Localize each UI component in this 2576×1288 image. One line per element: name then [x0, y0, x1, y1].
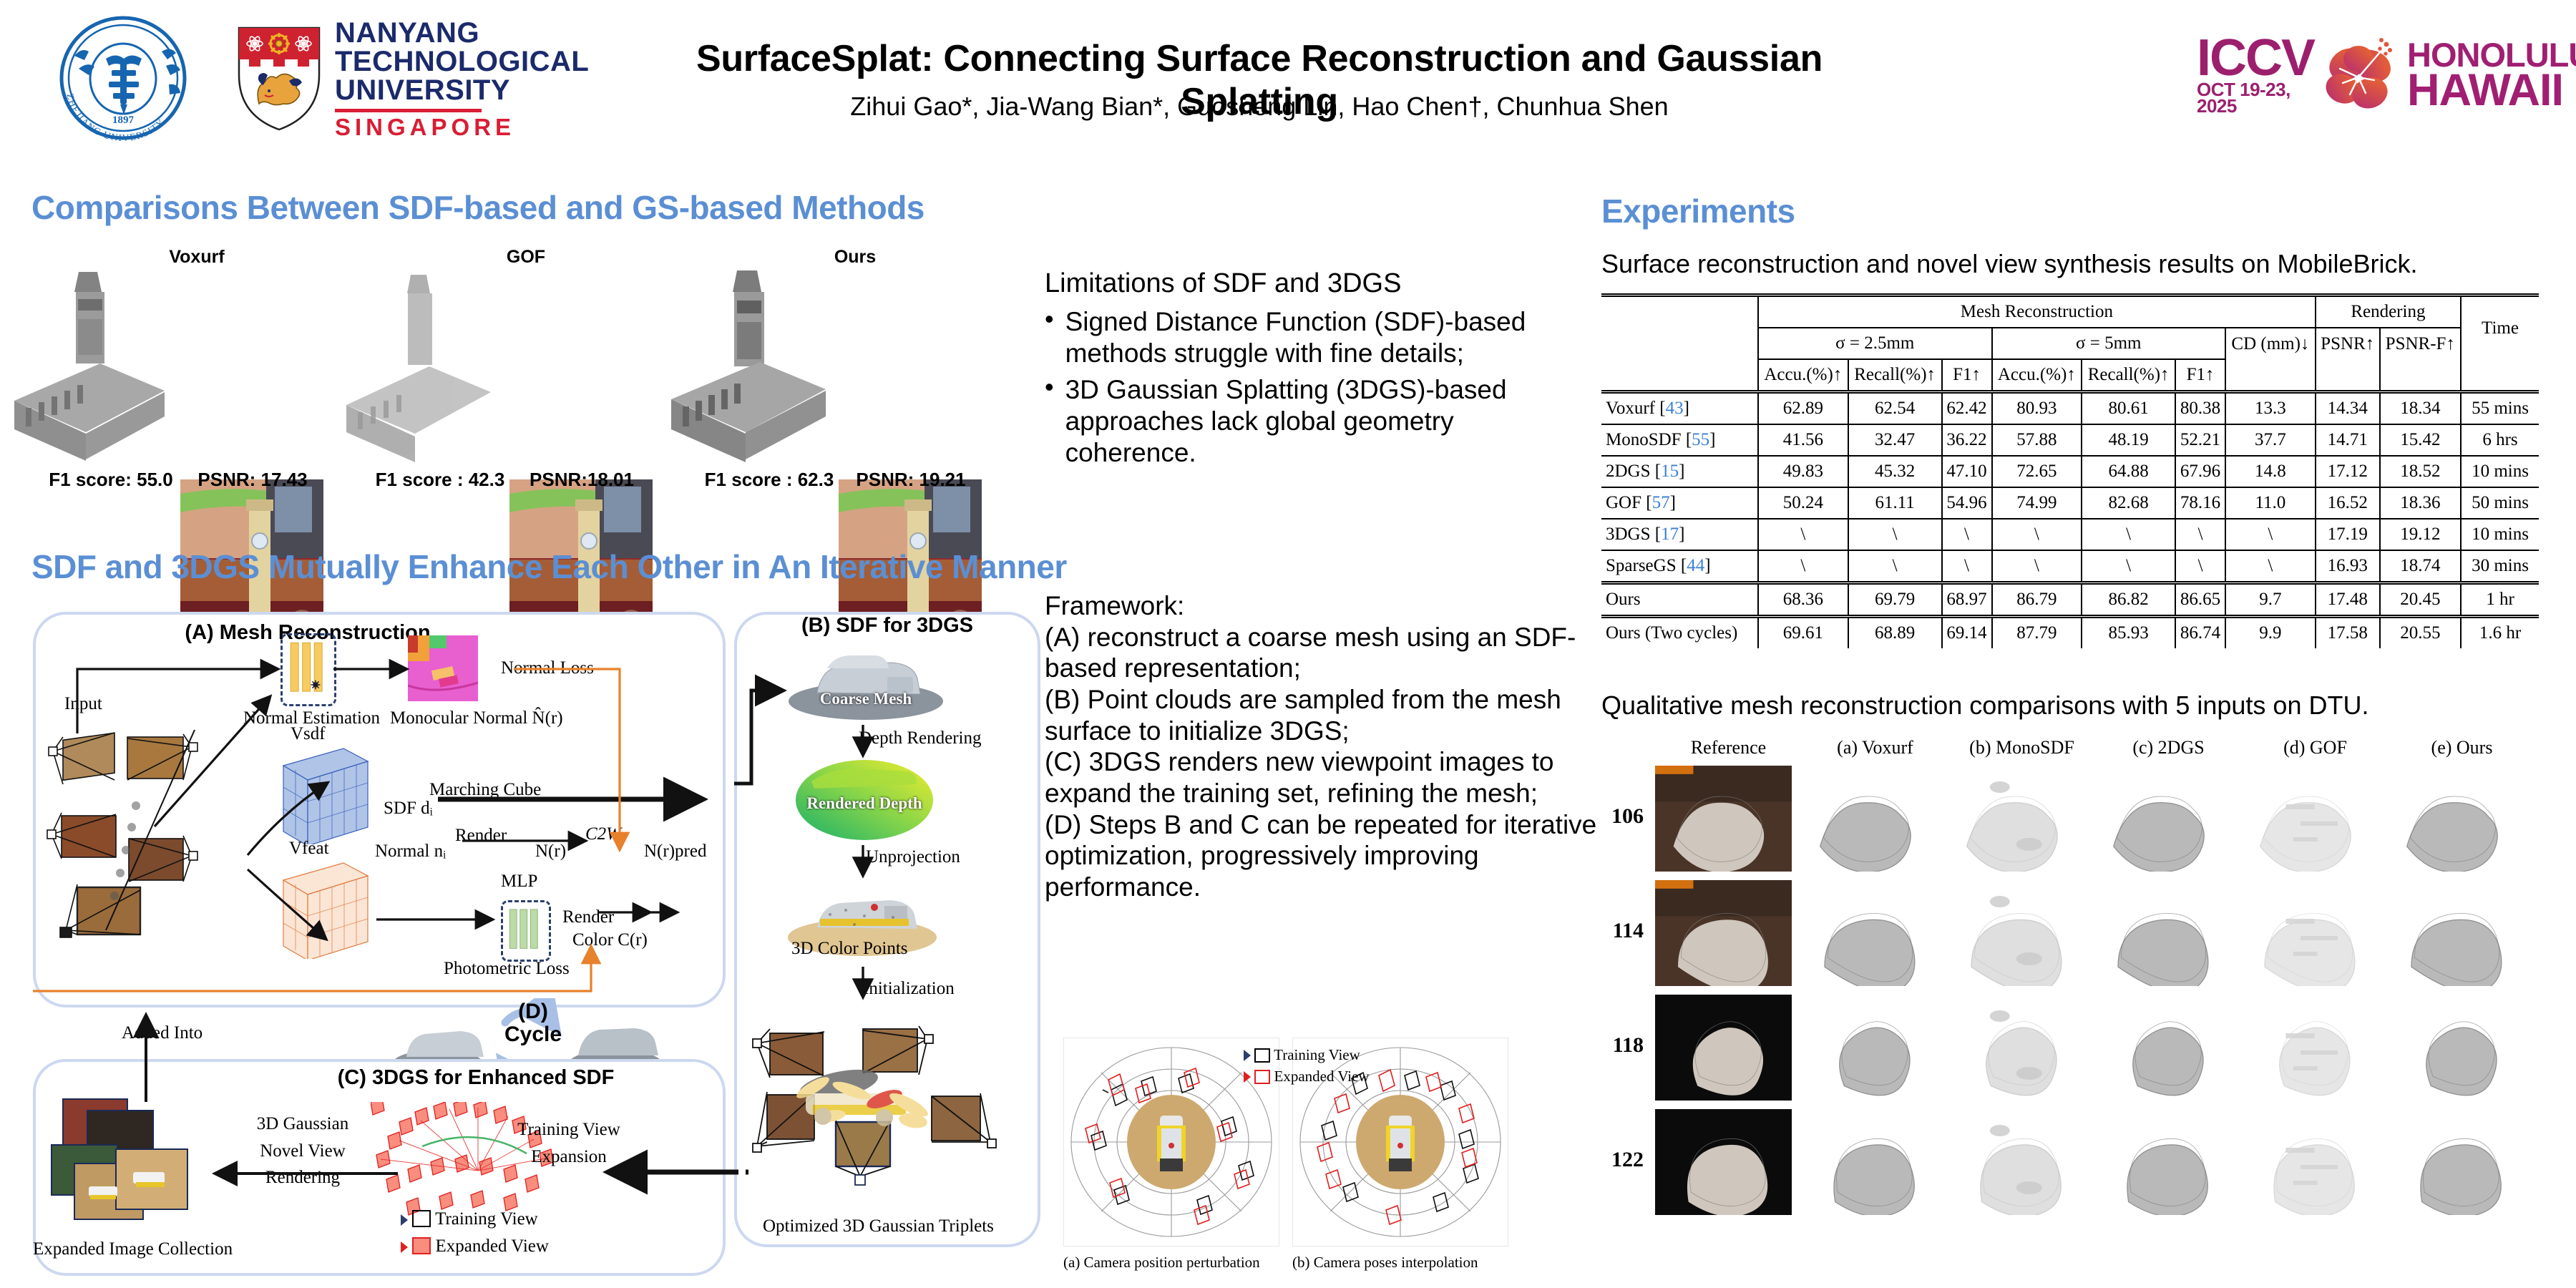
table-cell: 80.93 — [1992, 392, 2082, 425]
dtu-mesh-image — [2242, 880, 2379, 986]
dtu-scan-id: 118 — [1601, 1033, 1644, 1058]
column-header-recall-1: Recall(%)↑ — [1848, 359, 1942, 392]
group-header-mesh: Mesh Reconstruction — [1758, 296, 2316, 328]
iccv-name: ICCV — [2197, 36, 2314, 81]
hibiscus-flower-icon — [2318, 33, 2403, 117]
table-cell: 80.61 — [2082, 392, 2175, 425]
table-cell: 72.65 — [1992, 456, 2082, 487]
comparison-pair-ours — [0, 0, 165, 429]
table-cell: \ — [1758, 519, 1848, 550]
column-header-recall-2: Recall(%)↑ — [2082, 359, 2175, 392]
dtu-mesh-image — [1802, 1109, 1938, 1215]
citation-ref[interactable]: 57 — [1652, 493, 1670, 512]
table-row: Ours (Two cycles)69.6168.8969.1487.7985.… — [1601, 617, 2539, 649]
table-cell: 68.89 — [1848, 617, 1942, 649]
results-table-body: Voxurf [43]62.8962.5462.4280.9380.6180.3… — [1601, 392, 2539, 649]
dtu-reference-image — [1655, 995, 1792, 1101]
table-cell: 62.42 — [1942, 392, 1992, 425]
table-cell: 64.88 — [2082, 456, 2175, 487]
dtu-comparison-grid: Reference(a) Voxurf(b) MonoSDF(c) 2DGS(d… — [1601, 737, 2553, 1221]
table-cell: 11.0 — [2225, 487, 2316, 519]
table-row: GOF [57]50.2461.1154.9674.9982.6878.1611… — [1601, 487, 2539, 519]
dtu-mesh-image — [2242, 766, 2379, 872]
table-cell-method: Ours — [1601, 583, 1758, 617]
table-row: 3DGS [17]\\\\\\\17.1919.1210 mins — [1601, 519, 2539, 550]
mesh-render-gof — [336, 265, 501, 479]
table-cell: 16.52 — [2316, 487, 2380, 519]
bullet-icon: • — [1045, 306, 1054, 369]
column-header-f1-1: F1↑ — [1942, 359, 1992, 392]
table-cell: 62.89 — [1758, 392, 1848, 425]
results-table: Mesh Reconstruction Rendering Time σ = 2… — [1601, 293, 2539, 648]
table-cell: 9.9 — [2225, 617, 2316, 649]
table-cell: 45.32 — [1848, 456, 1942, 487]
f1-score-voxurf: F1 score: 55.0 — [43, 469, 179, 491]
triangle-icon — [1244, 1071, 1251, 1083]
dtu-mesh-image — [2242, 1109, 2379, 1215]
table-cell: 50 mins — [2461, 487, 2539, 519]
table-cell-method: Voxurf [43] — [1601, 392, 1758, 425]
f1-score-gof: F1 score : 42.3 — [372, 469, 508, 491]
table-cell: 10 mins — [2461, 456, 2539, 487]
legend-training-view-fig: Training View — [1244, 1046, 1360, 1064]
dtu-mesh-image — [2389, 1109, 2525, 1215]
table-cell: 68.36 — [1758, 583, 1848, 617]
panel-c-arrows — [33, 987, 748, 1274]
dtu-column-header: (e) Ours — [2389, 737, 2535, 758]
bullet-icon: • — [1045, 374, 1054, 468]
dtu-reference-image — [1655, 880, 1792, 986]
legend-label: Training View — [1274, 1046, 1360, 1063]
table-cell: 47.10 — [1942, 456, 1992, 487]
table-cell: 19.12 — [2380, 519, 2461, 550]
table-cell: \ — [1992, 550, 2082, 583]
table-cell: 52.21 — [2175, 424, 2225, 456]
table-cell: 85.93 — [2082, 617, 2175, 649]
table-cell: 17.19 — [2316, 519, 2380, 550]
dtu-scan-id: 122 — [1601, 1148, 1644, 1172]
dtu-mesh-image — [2242, 995, 2379, 1101]
table-cell: 49.83 — [1758, 456, 1848, 487]
table-cell: \ — [1758, 550, 1848, 583]
table-cell: 86.65 — [2175, 583, 2225, 617]
column-header-accu-1: Accu.(%)↑ — [1758, 359, 1848, 392]
table-cell: 30 mins — [2461, 550, 2539, 583]
table-cell-method: 3DGS [17] — [1601, 519, 1758, 550]
limitations-title: Limitations of SDF and 3DGS — [1045, 268, 1589, 299]
table-cell: 86.74 — [2175, 617, 2225, 649]
table-row: Ours68.3669.7968.9786.7986.8286.659.717.… — [1601, 583, 2539, 617]
table-cell: 69.14 — [1942, 617, 1992, 649]
dtu-mesh-image — [1802, 766, 1938, 872]
f1-score-ours: F1 score : 62.3 — [701, 469, 837, 491]
dtu-scan-id: 106 — [1601, 804, 1644, 829]
section-heading-mutual: SDF and 3DGS Mutually Enhance Each Other… — [31, 547, 1067, 586]
table-cell: 18.34 — [2380, 392, 2461, 425]
table-cell: 17.58 — [2316, 617, 2380, 649]
table-cell: 74.99 — [1992, 487, 2082, 519]
dtu-row: 114 — [1601, 877, 2553, 992]
column-header-cd: CD (mm)↓ — [2225, 328, 2316, 359]
table-cell: \ — [2175, 519, 2225, 550]
table-cell: \ — [2082, 550, 2175, 583]
column-header-accu-2: Accu.(%)↑ — [1992, 359, 2082, 392]
ntu-line-1: NANYANG — [335, 19, 589, 47]
table-cell: 17.48 — [2316, 583, 2380, 617]
table-cell: 20.45 — [2380, 583, 2461, 617]
dtu-mesh-image — [2095, 880, 2232, 986]
citation-ref[interactable]: 43 — [1666, 399, 1684, 418]
psnr-ours: PSNR: 19.21 — [843, 469, 979, 491]
framework-step-d: (D) Steps B and C can be repeated for it… — [1045, 809, 1610, 903]
dtu-mesh-image — [1948, 995, 2085, 1101]
table-cell: \ — [1848, 550, 1942, 583]
table-cell: 78.16 — [2175, 487, 2225, 519]
citation-ref[interactable]: 17 — [1661, 525, 1679, 544]
caption-camera-interpolation: (b) Camera poses interpolation — [1292, 1254, 1478, 1272]
table-row: SparseGS [44]\\\\\\\16.9318.7430 mins — [1601, 550, 2539, 583]
framework-step-c: (C) 3DGS renders new viewpoint images to… — [1045, 746, 1610, 809]
dtu-row: 122 — [1601, 1106, 2553, 1221]
table-cell: 1 hr — [2461, 583, 2539, 617]
framework-step-b: (B) Point clouds are sampled from the me… — [1045, 684, 1610, 746]
white-swatch — [1254, 1048, 1270, 1063]
dtu-mesh-image — [2095, 1109, 2232, 1215]
table-cell-method: Ours (Two cycles) — [1601, 617, 1758, 649]
column-header-psnrf: PSNR-F↑ — [2380, 328, 2461, 359]
citation-ref[interactable]: 15 — [1661, 462, 1679, 481]
table-cell: 14.71 — [2316, 424, 2380, 456]
table-cell: 55 mins — [2461, 392, 2539, 425]
psnr-gof: PSNR:18.01 — [514, 469, 650, 491]
table-cell: 86.79 — [1992, 583, 2082, 617]
ntu-divider — [335, 109, 482, 112]
dtu-column-header: (d) GOF — [2242, 737, 2389, 758]
framework-step-a: (A) reconstruct a coarse mesh using an S… — [1045, 622, 1610, 684]
table-cell: 69.79 — [1848, 583, 1942, 617]
limitations-block: Limitations of SDF and 3DGS • Signed Dis… — [1045, 268, 1589, 468]
section-heading-experiments: Experiments — [1601, 192, 1795, 230]
framework-text-title: Framework: — [1045, 590, 1610, 622]
dtu-column-header: Reference — [1655, 737, 1802, 758]
table-cell-method: SparseGS [44] — [1601, 550, 1758, 583]
panel-b-arrows — [734, 612, 1042, 1241]
ntu-shield-icon — [236, 25, 322, 132]
table-cell: 41.56 — [1758, 424, 1848, 456]
dtu-mesh-image — [1948, 1109, 2085, 1215]
table-cell: \ — [2225, 519, 2316, 550]
dtu-reference-image — [1655, 1109, 1792, 1215]
table-cell: 9.7 — [2225, 583, 2316, 617]
ntu-line-2: TECHNOLOGICAL — [335, 47, 589, 76]
table-cell: 86.82 — [2082, 583, 2175, 617]
table-cell: 18.74 — [2380, 550, 2461, 583]
dtu-mesh-image — [2389, 880, 2525, 986]
caption-camera-perturbation: (a) Camera position perturbation — [1063, 1254, 1260, 1272]
section-heading-comparisons: Comparisons Between SDF-based and GS-bas… — [31, 188, 924, 227]
table-cell: 18.52 — [2380, 456, 2461, 487]
table-cell-method: MonoSDF [55] — [1601, 424, 1758, 456]
column-header-time: Time — [2461, 296, 2539, 360]
dtu-column-header: (a) Voxurf — [1802, 737, 1948, 758]
dtu-reference-image — [1655, 766, 1792, 872]
limitations-item-text: Signed Distance Function (SDF)-based met… — [1065, 306, 1589, 369]
panel-a-arrows — [33, 612, 727, 1005]
table-cell: 82.68 — [2082, 487, 2175, 519]
table-cell: \ — [2225, 550, 2316, 583]
table-cell: 15.42 — [2380, 424, 2461, 456]
dtu-mesh-image — [2389, 766, 2525, 872]
legend-expanded-view-fig: Expanded View — [1244, 1068, 1370, 1085]
table-cell-method: GOF [57] — [1601, 487, 1758, 519]
dtu-mesh-image — [2095, 995, 2232, 1101]
table-cell: 6 hrs — [2461, 424, 2539, 456]
experiments-caption: Surface reconstruction and novel view sy… — [1601, 249, 2418, 279]
red-outline-swatch — [1254, 1070, 1270, 1084]
dtu-mesh-image — [1948, 766, 2085, 872]
table-cell: \ — [2175, 550, 2225, 583]
table-cell: 32.47 — [1848, 424, 1942, 456]
ntu-logo: NANYANG TECHNOLOGICAL UNIVERSITY SINGAPO… — [236, 21, 608, 136]
iccv-logo: ICCV OCT 19-23, 2025 HONOLULU HAWAII — [2197, 29, 2555, 122]
dtu-mesh-image — [2389, 995, 2525, 1101]
dtu-column-header: (b) MonoSDF — [1948, 737, 2095, 758]
table-cell: 36.22 — [1942, 424, 1992, 456]
table-cell: 14.34 — [2316, 392, 2380, 425]
table-cell: 61.11 — [1848, 487, 1942, 519]
sigma-header-5: σ = 5mm — [1992, 328, 2226, 359]
table-cell: 14.8 — [2225, 456, 2316, 487]
table-cell: 48.19 — [2082, 424, 2175, 456]
table-cell: 10 mins — [2461, 519, 2539, 550]
mesh-render-ours — [665, 265, 830, 479]
table-row: MonoSDF [55]41.5632.4736.2257.8848.1952.… — [1601, 424, 2539, 456]
table-cell: 17.12 — [2316, 456, 2380, 487]
psnr-voxurf: PSNR: 17.43 — [185, 469, 321, 491]
table-cell: 62.54 — [1848, 392, 1942, 425]
table-row: Voxurf [43]62.8962.5462.4280.9380.6180.3… — [1601, 392, 2539, 425]
results-table-wrapper: Mesh Reconstruction Rendering Time σ = 2… — [1601, 293, 2539, 648]
table-cell: 87.79 — [1992, 617, 2082, 649]
framework-description: Framework: (A) reconstruct a coarse mesh… — [1045, 590, 1610, 903]
table-cell: \ — [1942, 550, 1992, 583]
table-cell: \ — [1848, 519, 1942, 550]
table-cell: 80.38 — [2175, 392, 2225, 425]
table-cell: 1.6 hr — [2461, 617, 2539, 649]
citation-ref[interactable]: 44 — [1687, 556, 1704, 575]
dtu-row: 106 — [1601, 763, 2553, 877]
table-cell: 37.7 — [2225, 424, 2316, 456]
dtu-row: 118 — [1601, 992, 2553, 1106]
table-cell: 50.24 — [1758, 487, 1848, 519]
triangle-icon — [1244, 1050, 1251, 1061]
dtu-mesh-image — [1802, 880, 1938, 986]
limitations-item: • Signed Distance Function (SDF)-based m… — [1045, 306, 1589, 369]
table-cell: \ — [1942, 519, 1992, 550]
dtu-mesh-image — [2095, 766, 2232, 872]
table-cell: 69.61 — [1758, 617, 1848, 649]
table-cell: 67.96 — [2175, 456, 2225, 487]
table-cell: 16.93 — [2316, 550, 2380, 583]
dtu-mesh-image — [1948, 880, 2085, 986]
column-header-f1-2: F1↑ — [2175, 359, 2225, 392]
limitations-item: • 3D Gaussian Splatting (3DGS)-based app… — [1045, 374, 1589, 468]
table-cell: 57.88 — [1992, 424, 2082, 456]
group-header-rendering: Rendering — [2316, 296, 2461, 328]
table-row: 2DGS [15]49.8345.3247.1072.6564.8867.961… — [1601, 456, 2539, 487]
table-cell: \ — [1992, 519, 2082, 550]
table-cell: \ — [2082, 519, 2175, 550]
author-list: Zihui Gao*, Jia-Wang Bian*, Guosheng Lin… — [630, 92, 1889, 122]
column-header-psnr: PSNR↑ — [2316, 328, 2380, 359]
sigma-header-2p5: σ = 2.5mm — [1758, 328, 1992, 359]
legend-label: Expanded View — [1274, 1068, 1370, 1085]
table-cell: 13.3 — [2225, 392, 2316, 425]
dtu-mesh-image — [1802, 995, 1938, 1101]
table-cell: 54.96 — [1942, 487, 1992, 519]
iccv-state: HAWAII — [2407, 70, 2576, 111]
table-cell: 20.55 — [2380, 617, 2461, 649]
ntu-line-4: SINGAPORE — [335, 115, 589, 139]
dtu-scan-id: 114 — [1601, 919, 1644, 943]
table-cell-method: 2DGS [15] — [1601, 456, 1758, 487]
ntu-line-3: UNIVERSITY — [335, 76, 589, 104]
citation-ref[interactable]: 55 — [1692, 430, 1709, 449]
dtu-caption: Qualitative mesh reconstruction comparis… — [1601, 691, 2368, 721]
table-cell: 18.36 — [2380, 487, 2461, 519]
dtu-column-header: (c) 2DGS — [2095, 737, 2242, 758]
limitations-item-text: 3D Gaussian Splatting (3DGS)-based appro… — [1065, 374, 1589, 468]
table-cell: 68.97 — [1942, 583, 1992, 617]
